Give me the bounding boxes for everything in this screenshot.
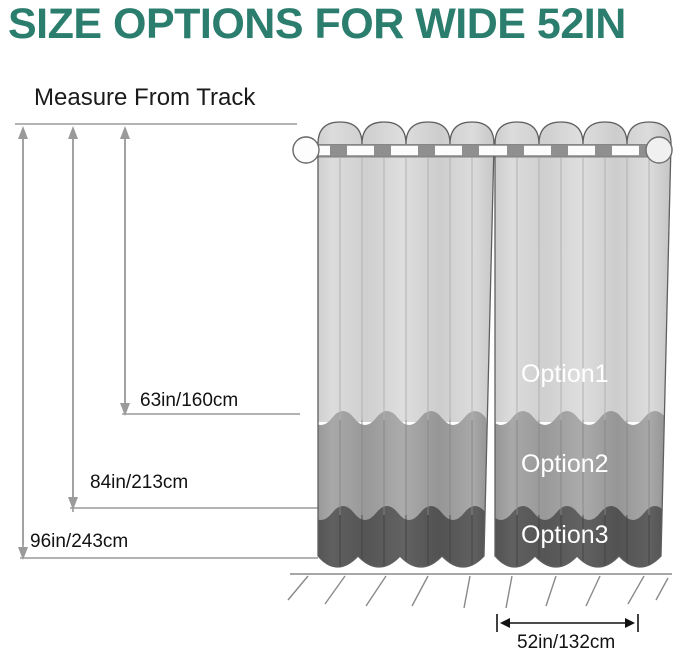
dimension-label-width: 52in/132cm <box>517 632 615 654</box>
dimension-label-option3: 96in/243cm <box>30 531 128 553</box>
option-label-3: Option3 <box>521 521 609 549</box>
width-dimension <box>497 614 638 632</box>
option-label-2: Option2 <box>521 450 609 478</box>
infographic-root: SIZE OPTIONS FOR WIDE 52IN Measure From … <box>0 0 679 660</box>
curtain-panel-left <box>310 110 495 600</box>
page-title: SIZE OPTIONS FOR WIDE 52IN <box>8 0 678 50</box>
subtitle-measure-from-track: Measure From Track <box>34 84 255 112</box>
dimension-label-option2: 84in/213cm <box>90 472 188 494</box>
dimension-arrowheads <box>18 126 130 560</box>
option-label-1: Option1 <box>521 360 609 388</box>
floor-hatching <box>288 576 668 608</box>
dimension-label-option1: 63in/160cm <box>140 390 238 412</box>
